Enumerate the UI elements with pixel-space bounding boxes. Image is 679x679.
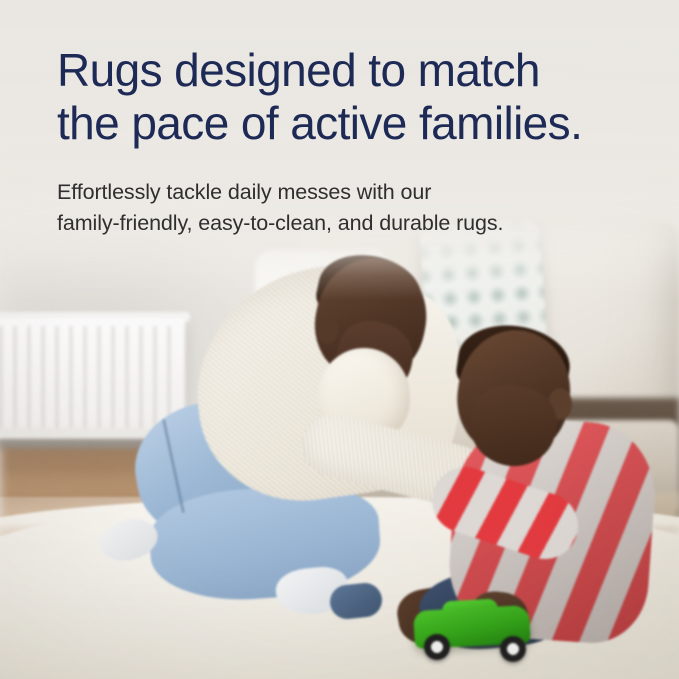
toy-car-wheel-rear bbox=[500, 636, 526, 662]
subheading: Effortlessly tackle daily messes with ou… bbox=[57, 177, 647, 239]
toy-car-wheel-front bbox=[424, 634, 450, 660]
banner-copy: Rugs designed to match the pace of activ… bbox=[57, 44, 647, 239]
page-title: Rugs designed to match the pace of activ… bbox=[57, 44, 647, 150]
rugs-promo-banner: Rugs designed to match the pace of activ… bbox=[0, 0, 679, 679]
